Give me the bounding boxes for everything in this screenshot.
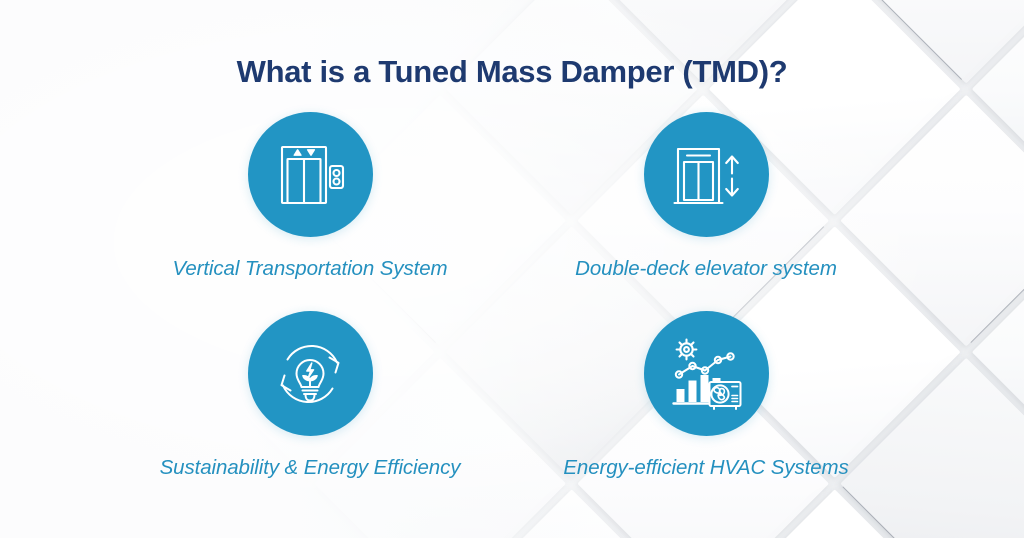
content-layer: What is a Tuned Mass Damper (TMD)? [0, 0, 1024, 538]
icon-badge[interactable] [644, 311, 769, 436]
grid-item-sustainability[interactable]: Sustainability & Energy Efficiency [110, 311, 510, 480]
infographic-canvas: What is a Tuned Mass Damper (TMD)? [0, 0, 1024, 538]
grid-item-double-deck-elevator[interactable]: Double-deck elevator system [506, 112, 906, 281]
grid-item-label: Energy-efficient HVAC Systems [506, 456, 906, 480]
page-title: What is a Tuned Mass Damper (TMD)? [0, 54, 1024, 90]
icon-badge[interactable] [644, 112, 769, 237]
double-deck-elevator-icon [668, 137, 744, 213]
grid-item-vertical-transportation[interactable]: Vertical Transportation System [110, 112, 510, 281]
grid-item-label: Sustainability & Energy Efficiency [110, 456, 510, 480]
sustainability-bulb-icon [271, 335, 349, 413]
hvac-analytics-icon [666, 334, 746, 414]
elevator-doors-icon [272, 137, 348, 213]
icon-badge[interactable] [248, 112, 373, 237]
grid-item-label: Double-deck elevator system [506, 257, 906, 281]
icon-badge[interactable] [248, 311, 373, 436]
grid-item-label: Vertical Transportation System [110, 257, 510, 281]
grid-item-hvac[interactable]: Energy-efficient HVAC Systems [506, 311, 906, 480]
